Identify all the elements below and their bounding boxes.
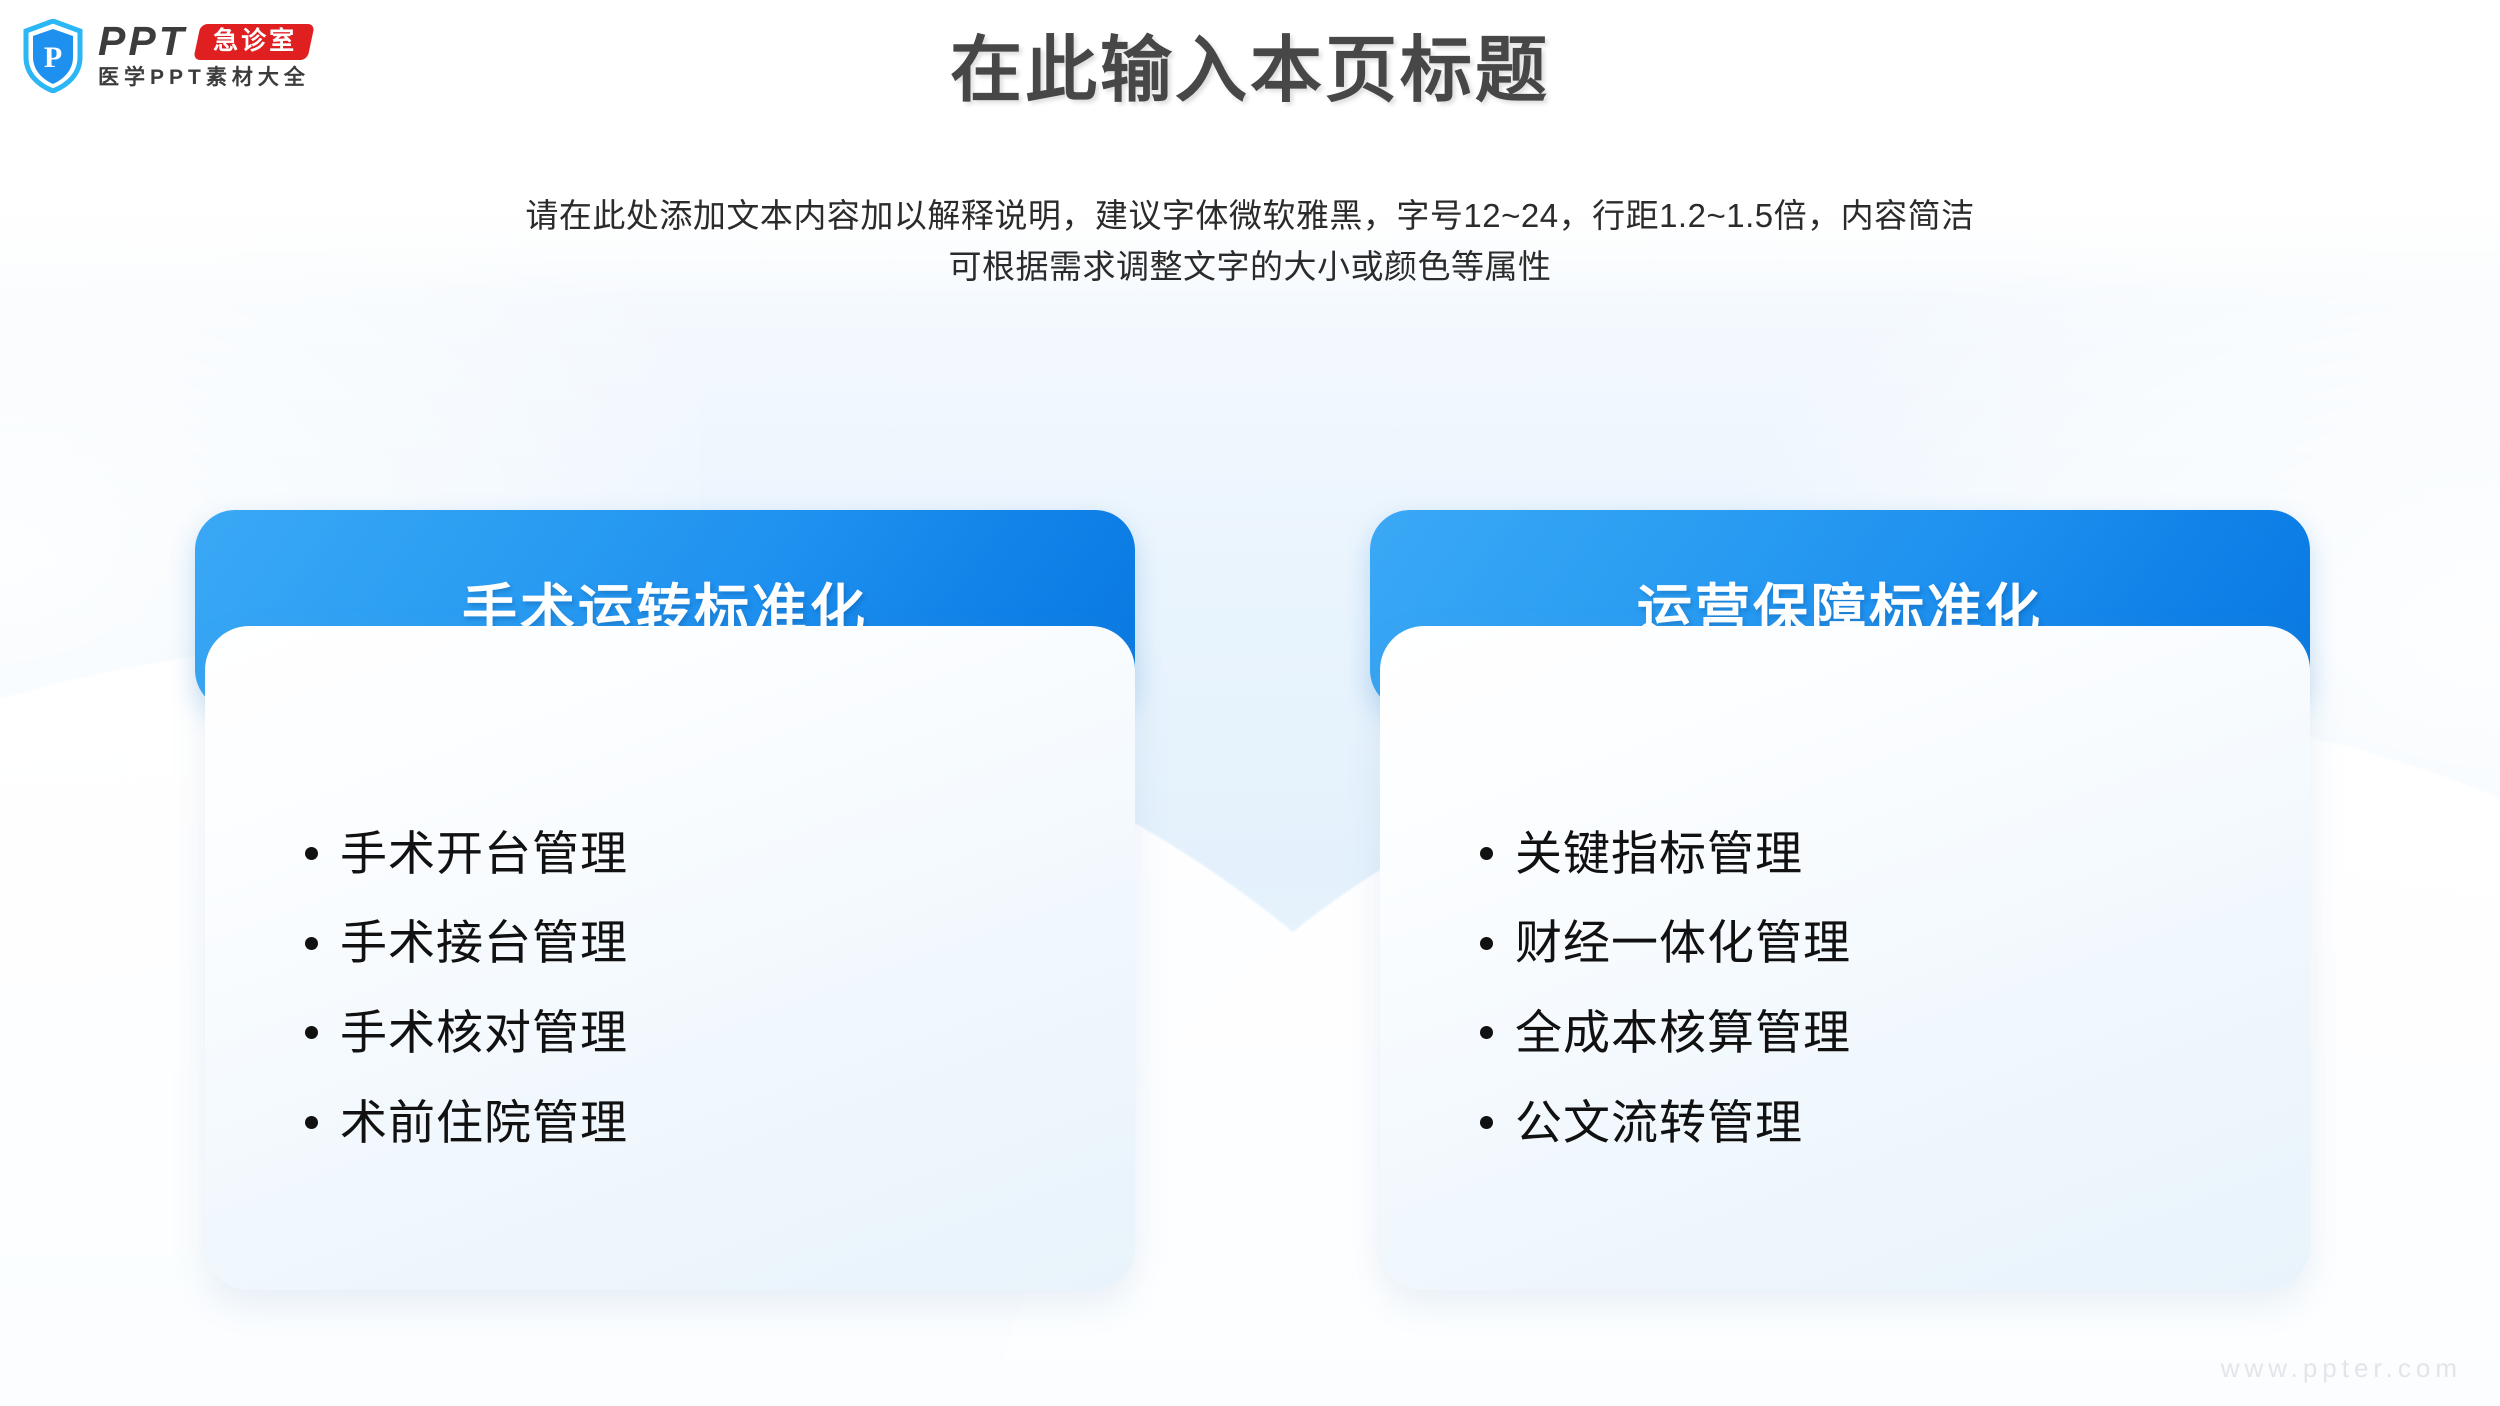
list-item-label: 财经一体化管理 [1515,917,1851,969]
page-subtitle-line-1: 请在此处添加文本内容加以解释说明，建议字体微软雅黑，字号12~24，行距1.2~… [0,190,2500,241]
list-item-label: 公文流转管理 [1515,1097,1803,1149]
bullet-list-left: 手术开台管理 手术接台管理 手术核对管理 术前住院管理 [205,768,1135,1149]
list-item-label: 手术核对管理 [340,1007,628,1059]
list-item-label: 手术接台管理 [340,917,628,969]
card-operations-standardization[interactable]: 运营保障标准化 关键指标管理 财经一体化管理 全成本核算管理 公文流转管 [1370,510,2310,1290]
bullet-dot-icon [1480,937,1493,950]
list-item-label: 关键指标管理 [1515,828,1803,880]
list-item[interactable]: 关键指标管理 [1480,828,1803,880]
bullet-list-right: 关键指标管理 财经一体化管理 全成本核算管理 公文流转管理 [1380,768,2310,1149]
list-item-label: 手术开台管理 [340,828,628,880]
bullet-dot-icon [1480,1116,1493,1129]
page-title: 在此输入本页标题 [0,30,2500,113]
card-body-left: 手术开台管理 手术接台管理 手术核对管理 术前住院管理 [205,626,1135,1290]
bullet-dot-icon [305,847,318,860]
list-item[interactable]: 手术接台管理 [305,917,628,969]
list-item[interactable]: 全成本核算管理 [1480,1007,1851,1059]
bullet-dot-icon [305,1026,318,1039]
site-watermark: www.ppter.com [2221,1353,2462,1384]
page-subtitle-line-2: 可根据需求调整文字的大小或颜色等属性 [0,241,2500,292]
card-surgery-standardization[interactable]: 手术运转标准化 手术开台管理 手术接台管理 手术核对管理 术前住院管理 [195,510,1135,1290]
list-item[interactable]: 手术核对管理 [305,1007,628,1059]
bullet-dot-icon [305,937,318,950]
card-body-right: 关键指标管理 财经一体化管理 全成本核算管理 公文流转管理 [1380,626,2310,1290]
bullet-dot-icon [1480,847,1493,860]
page-subtitle: 请在此处添加文本内容加以解释说明，建议字体微软雅黑，字号12~24，行距1.2~… [0,190,2500,292]
bullet-dot-icon [305,1116,318,1129]
list-item-label: 术前住院管理 [340,1097,628,1149]
list-item-label: 全成本核算管理 [1515,1007,1851,1059]
list-item[interactable]: 公文流转管理 [1480,1097,1803,1149]
slide-canvas: P PPT 急诊室 医学PPT素材大全 在此输入本页标题 请在此处添加文本内容加… [0,0,2500,1406]
bullet-dot-icon [1480,1026,1493,1039]
list-item[interactable]: 术前住院管理 [305,1097,628,1149]
list-item[interactable]: 手术开台管理 [305,828,628,880]
list-item[interactable]: 财经一体化管理 [1480,917,1851,969]
